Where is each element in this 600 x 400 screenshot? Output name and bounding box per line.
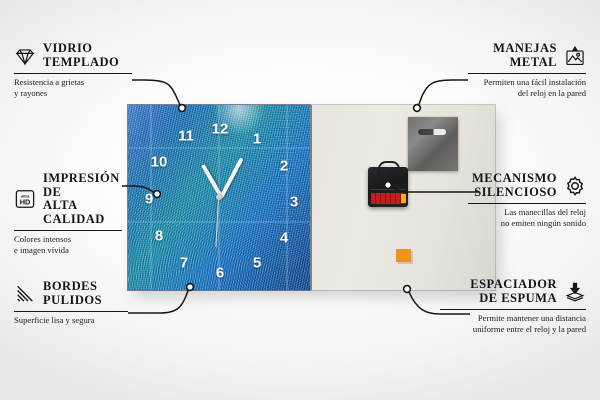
callout-vidrio-templado[interactable]: VIDRIO TEMPLADO Resistencia a grietas y … — [14, 42, 132, 98]
mechanism-hanging-loop — [378, 161, 400, 173]
clock-mechanism — [368, 167, 408, 207]
clock-numeral-8: 8 — [155, 229, 163, 244]
battery-terminal — [401, 194, 406, 203]
foam-spacer-pad — [396, 249, 411, 262]
callout-divider — [468, 73, 586, 74]
callout-bordes-pulidos[interactable]: BORDES PULIDOS Superficie lisa y segura — [14, 280, 128, 326]
callout-title: MANEJAS METAL — [493, 42, 557, 69]
product-photo: 12 1 2 3 4 5 6 7 8 9 10 11 — [128, 105, 495, 290]
callout-description: Superficie lisa y segura — [14, 315, 128, 326]
connector-vidrio-templado — [132, 80, 181, 107]
callout-description: Las manecillas del reloj no emiten ningú… — [468, 207, 586, 228]
callout-divider — [14, 230, 122, 231]
foam-spacer-icon — [564, 281, 586, 303]
clock-numeral-11: 11 — [178, 129, 194, 144]
callout-description: Permiten una fácil instalación del reloj… — [468, 77, 586, 98]
svg-text:HD: HD — [20, 198, 31, 207]
callout-divider — [468, 203, 586, 204]
callout-description: Resistencia a grietas y rayones — [14, 77, 132, 98]
callout-title: VIDRIO TEMPLADO — [43, 42, 119, 69]
connector-manejas — [418, 80, 468, 107]
ultra-hd-icon: ultra HD — [14, 188, 36, 210]
clock-center-cap — [216, 194, 222, 200]
callout-manejas-metal[interactable]: MANEJAS METAL Permiten una fácil instala… — [468, 42, 586, 98]
clock-face-panel: 12 1 2 3 4 5 6 7 8 9 10 11 — [128, 105, 310, 290]
clock-numeral-1: 1 — [253, 132, 261, 147]
callout-title: ESPACIADOR DE ESPUMA — [470, 278, 557, 305]
clock-numeral-3: 3 — [290, 195, 298, 210]
callout-description: Permite mantener una distancia uniforme … — [440, 313, 586, 334]
picture-hanger-icon — [564, 45, 586, 67]
clock-numeral-4: 4 — [280, 231, 288, 246]
callout-title: IMPRESIÓN DE ALTA CALIDAD — [43, 172, 122, 226]
callout-divider — [14, 311, 128, 312]
callout-description: Colores intensos e imagen vívida — [14, 234, 122, 255]
callout-divider — [440, 309, 586, 310]
mechanism-seam — [371, 189, 405, 190]
clock-numeral-5: 5 — [253, 256, 261, 271]
gear-icon — [564, 175, 586, 197]
clock-numeral-10: 10 — [151, 155, 168, 170]
callout-title: MECANISMO SILENCIOSO — [472, 172, 557, 199]
clock-numeral-2: 2 — [280, 159, 288, 174]
battery-compartment — [371, 193, 405, 204]
callout-mecanismo-silencioso[interactable]: MECANISMO SILENCIOSO Las manecillas del … — [468, 172, 586, 228]
callout-title: BORDES PULIDOS — [43, 280, 102, 307]
clock-numeral-7: 7 — [180, 256, 188, 271]
clock-numeral-6: 6 — [216, 266, 224, 281]
diamond-icon — [14, 45, 36, 67]
polished-edges-icon — [14, 283, 36, 305]
metal-hanger-plate — [408, 117, 458, 171]
callout-impresion-alta-calidad[interactable]: ultra HD IMPRESIÓN DE ALTA CALIDAD Color… — [14, 172, 122, 255]
hanger-keyhole-slot — [418, 129, 446, 135]
callout-divider — [14, 73, 132, 74]
clock-numeral-9: 9 — [145, 192, 153, 207]
callout-espaciador-espuma[interactable]: ESPACIADOR DE ESPUMA Permite mantener un… — [440, 278, 586, 334]
infographic-canvas: 12 1 2 3 4 5 6 7 8 9 10 11 — [0, 0, 600, 400]
clock-numeral-12: 12 — [212, 122, 229, 137]
